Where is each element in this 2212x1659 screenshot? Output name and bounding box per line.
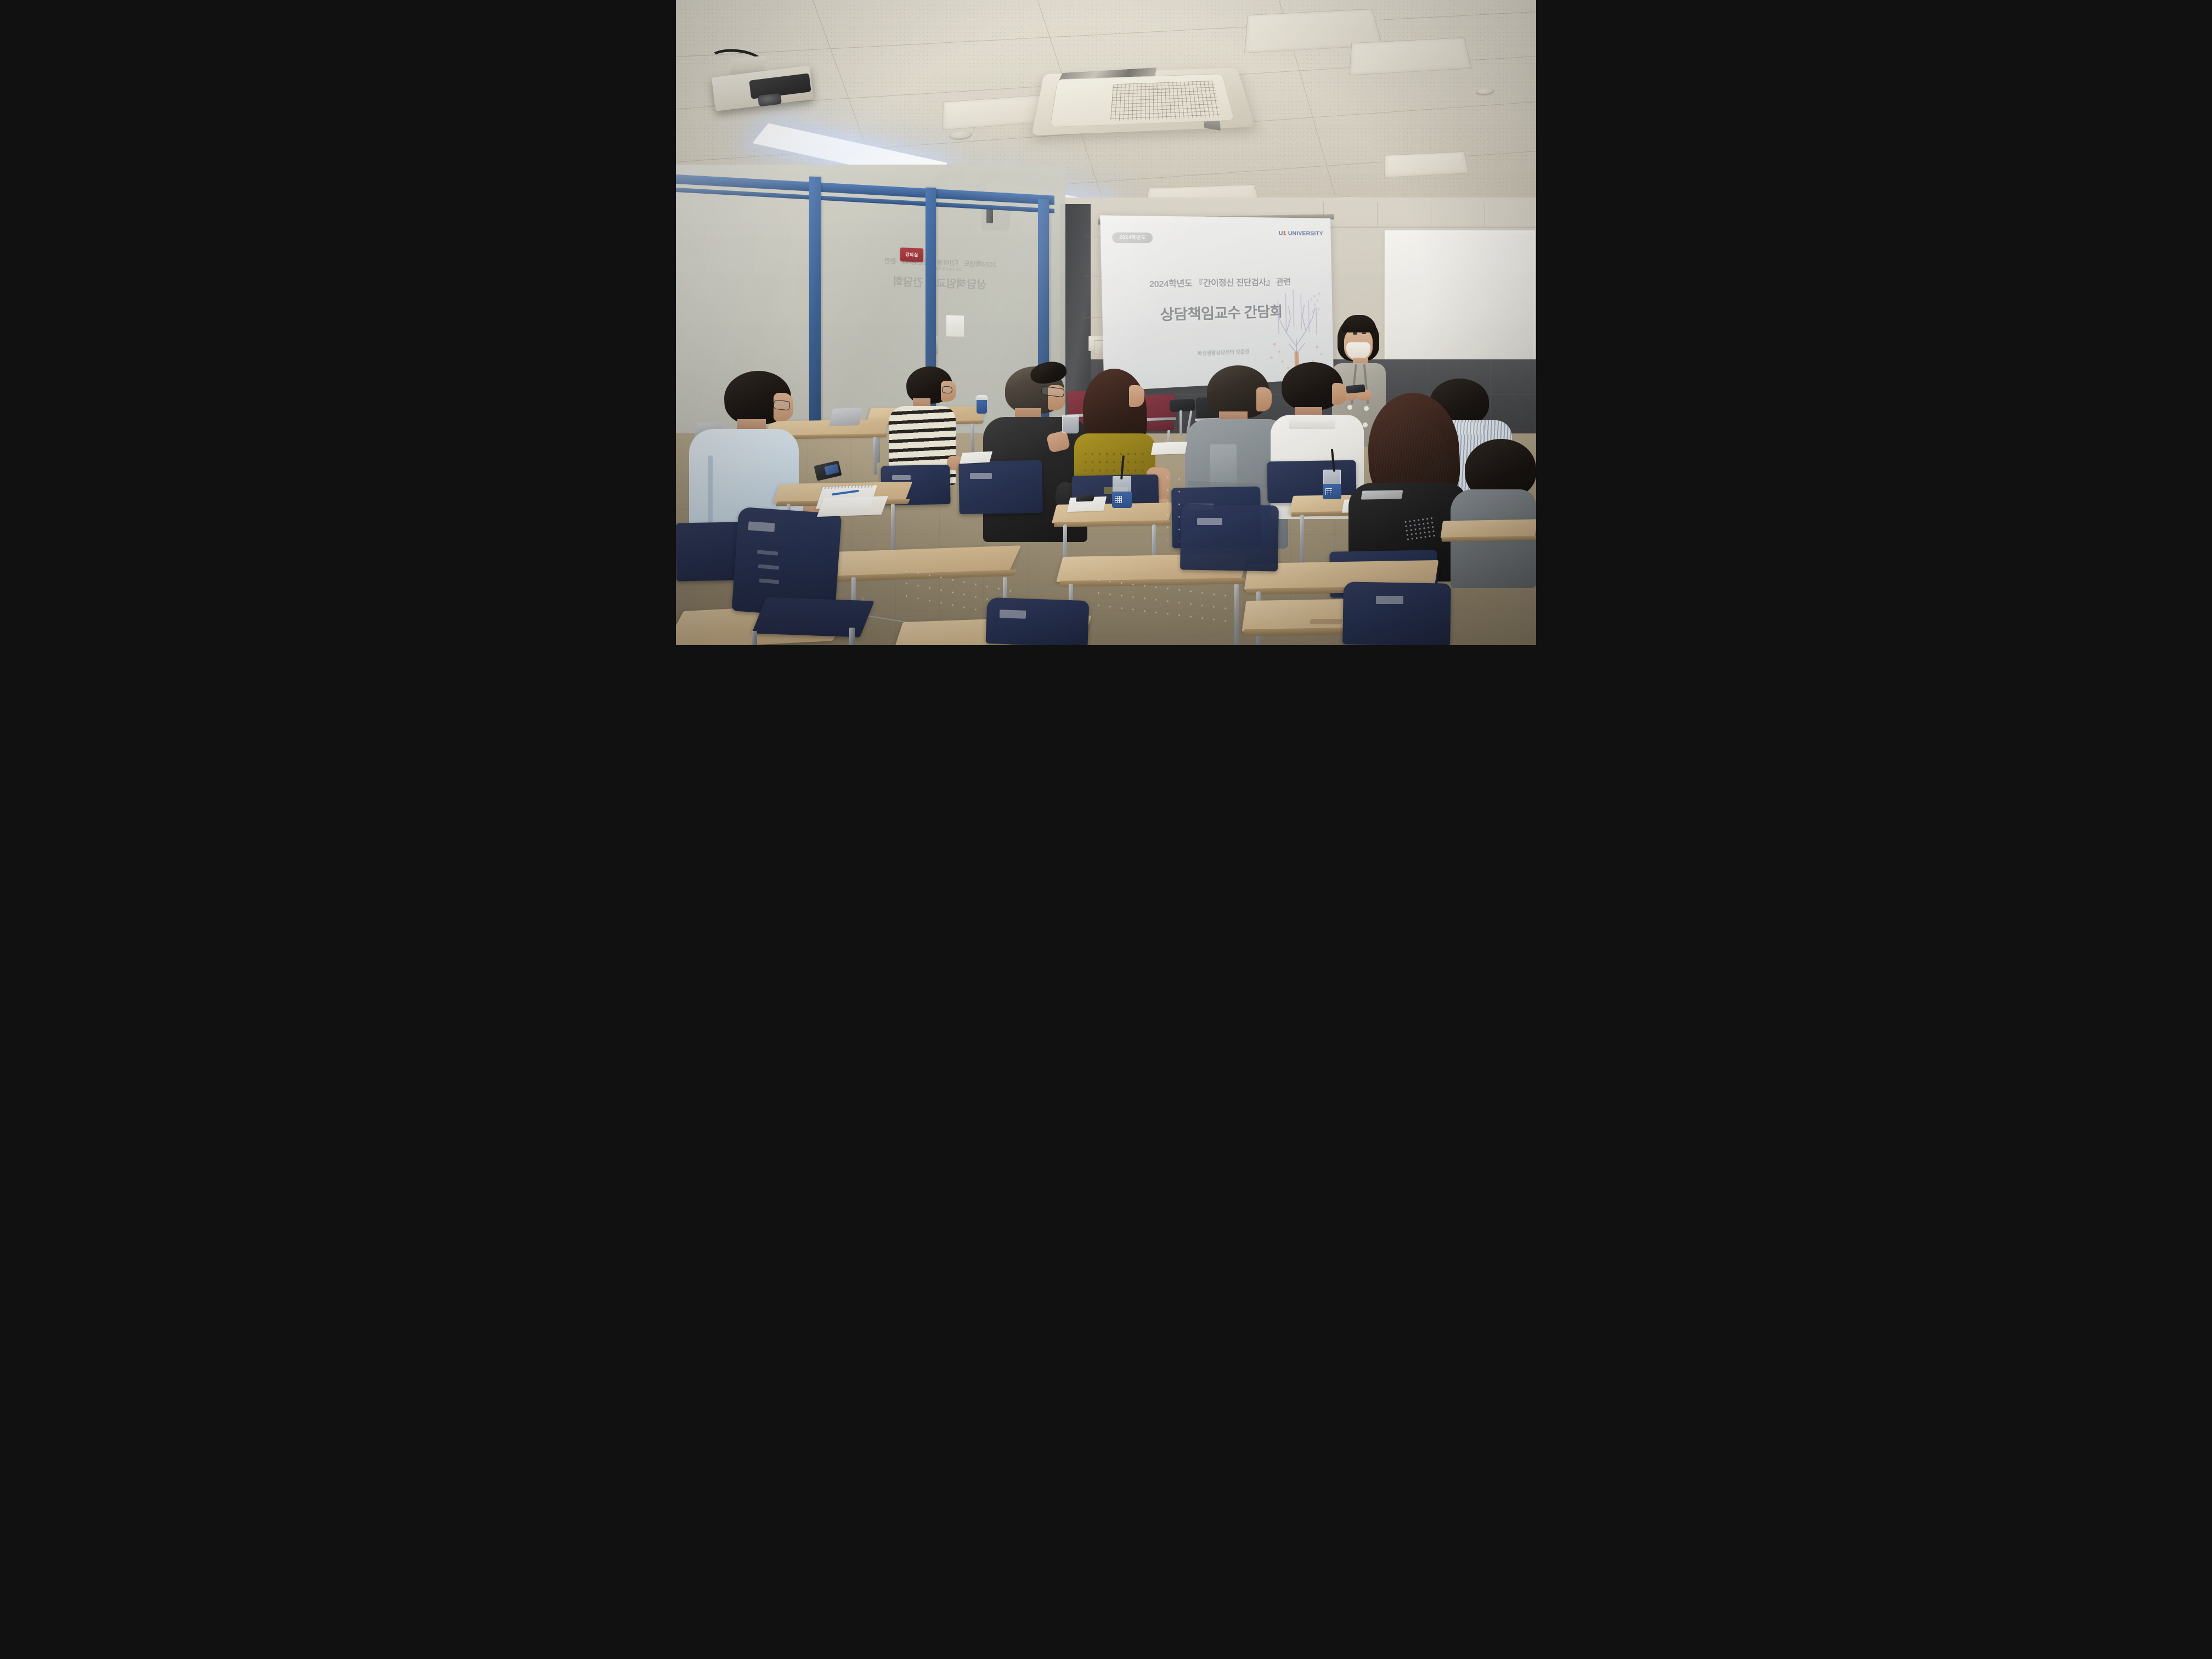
ac-intake-grille [1110,81,1221,121]
chair-leg [849,628,855,645]
eye [1353,332,1357,335]
glasses-icon [941,386,952,394]
chair-navy-foreground[interactable] [986,597,1090,645]
handout-paper[interactable] [817,496,888,517]
qr-code-icon [1115,496,1122,503]
beaded-detail [1403,516,1435,541]
stool-leg [1180,410,1182,436]
ceiling-light-panel [1384,151,1469,178]
smartphone[interactable] [1076,494,1095,501]
qr-code-icon [1325,488,1332,495]
desk-leg [873,437,877,475]
handout-paper[interactable] [1151,442,1187,455]
glasses-icon [773,399,791,410]
slide-year-badge: 2024학년도 [1112,232,1153,243]
university-logo: U1 UNIVERSITY [1279,230,1323,237]
face-profile [1256,387,1272,411]
chair-handle-slot [892,475,911,480]
lecture-room-photo: SAMSUNG 2024학년도 U1 UNIVERSITY 2024학년도 『간… [676,0,1536,645]
face-profile [1332,383,1346,405]
laptop[interactable] [1361,490,1403,499]
laptop[interactable] [829,408,862,426]
chair-seat [752,597,874,637]
presentation-remote[interactable] [1346,385,1365,394]
blazer-button [1364,406,1369,411]
chair-handle-slot [1376,596,1403,604]
chair-leg [752,631,757,645]
chair-handle-slot [1197,518,1222,525]
whiteboard[interactable] [1384,229,1536,365]
coffee-cup-sleeve [977,399,987,414]
iced-drink-cup[interactable] [1062,415,1079,433]
blazer-button [1363,422,1368,427]
face-profile [1129,385,1144,407]
ceiling-light-panel [1349,37,1472,75]
eye [1362,332,1366,334]
wall-stone-band [1323,202,1536,228]
chair-handle-slot [970,473,992,479]
chair-handle-slot [1000,610,1026,619]
blazer-button [1347,405,1352,410]
desk-leg [1234,584,1239,645]
shirt-pocket [1210,444,1237,486]
chair-navy[interactable] [1180,504,1279,571]
desk-handle-slot [1310,619,1342,624]
chair-navy[interactable] [958,460,1043,515]
chair-navy-foreground[interactable] [1342,582,1451,645]
coffee-cup-lid [975,395,988,400]
handout-paper[interactable] [960,452,992,464]
chair-handle-slot [748,521,775,532]
polo-collar [1289,416,1335,429]
logo-suffix: UNIVERSITY [1286,230,1323,237]
